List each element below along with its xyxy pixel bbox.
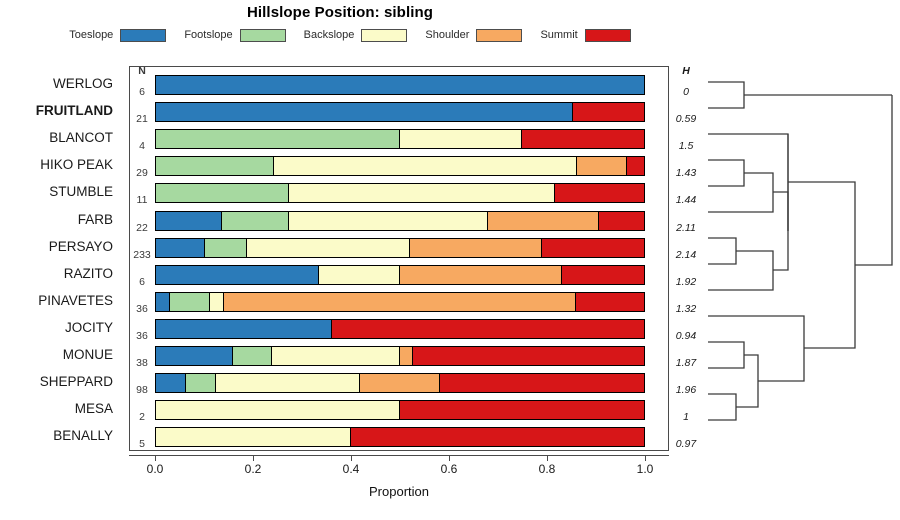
category-label-mesa: MESA (0, 401, 113, 416)
bar-segment-shoulder (360, 374, 440, 392)
category-label-fruitland: FRUITLAND (0, 103, 113, 118)
bar-segment-backslope (156, 401, 400, 419)
n-value: 29 (129, 167, 155, 179)
n-value: 6 (129, 86, 155, 98)
bar-segment-summit (522, 130, 644, 148)
legend-label: Summit (540, 29, 577, 41)
category-label-hiko-peak: HIKO PEAK (0, 157, 113, 172)
bar-segment-footslope (233, 347, 272, 365)
bar-segment-summit (555, 184, 644, 202)
legend-item-shoulder: Shoulder (425, 29, 522, 42)
bar-segment-summit (599, 212, 644, 230)
bar-segment-shoulder (400, 266, 563, 284)
legend-swatch-footslope (240, 29, 286, 42)
n-value: 36 (129, 330, 155, 342)
stacked-bar (155, 346, 645, 366)
category-label-farb: FARB (0, 212, 113, 227)
legend-swatch-shoulder (476, 29, 522, 42)
x-tick (449, 455, 450, 461)
category-label-jocity: JOCITY (0, 320, 113, 335)
bar-segment-backslope (274, 157, 577, 175)
bar-segment-backslope (272, 347, 400, 365)
x-tick-label: 0.2 (245, 462, 262, 476)
bar-segment-footslope (222, 212, 288, 230)
category-label-blancot: BLANCOT (0, 130, 113, 145)
bar-segment-backslope (247, 239, 410, 257)
n-value: 98 (129, 384, 155, 396)
bar-segment-toeslope (156, 212, 222, 230)
n-value: 36 (129, 303, 155, 315)
category-label-benally: BENALLY (0, 428, 113, 443)
chart-title: Hillslope Position: sibling (0, 4, 680, 21)
legend-item-toeslope: Toeslope (69, 29, 166, 42)
bar-segment-summit (562, 266, 643, 284)
dendrogram-svg (700, 60, 900, 460)
legend-label: Backslope (304, 29, 355, 41)
stacked-bar (155, 102, 645, 122)
bar-segment-shoulder (400, 347, 413, 365)
bar-segment-toeslope (156, 239, 205, 257)
stacked-bar (155, 319, 645, 339)
bar-segment-shoulder (410, 239, 542, 257)
x-tick (547, 455, 548, 461)
stacked-bar (155, 183, 645, 203)
bar-segment-summit (576, 293, 644, 311)
bar-segment-summit (627, 157, 644, 175)
bar-segment-shoulder (224, 293, 576, 311)
legend-item-backslope: Backslope (304, 29, 408, 42)
bar-segment-footslope (170, 293, 211, 311)
legend-label: Footslope (184, 29, 232, 41)
x-tick-label: 0.4 (343, 462, 360, 476)
x-tick-label: 0.8 (539, 462, 556, 476)
legend-swatch-backslope (361, 29, 407, 42)
stacked-bar (155, 427, 645, 447)
legend-label: Toeslope (69, 29, 113, 41)
bar-segment-backslope (210, 293, 224, 311)
n-value: 6 (129, 276, 155, 288)
x-tick (155, 455, 156, 461)
bar-segment-toeslope (156, 293, 170, 311)
dendrogram (700, 60, 900, 460)
stacked-bar (155, 265, 645, 285)
category-label-stumble: STUMBLE (0, 184, 113, 199)
legend-item-footslope: Footslope (184, 29, 285, 42)
category-label-werlog: WERLOG (0, 76, 113, 91)
bar-segment-backslope (156, 428, 351, 446)
bar-segment-toeslope (156, 76, 644, 94)
stacked-bar (155, 373, 645, 393)
bar-segment-toeslope (156, 320, 332, 338)
bar-segment-backslope (216, 374, 360, 392)
x-tick-label: 0.6 (441, 462, 458, 476)
stacked-bar (155, 400, 645, 420)
stacked-bar (155, 156, 645, 176)
legend: ToeslopeFootslopeBackslopeShoulderSummit (0, 26, 700, 44)
n-value: 233 (129, 249, 155, 261)
x-axis-line (129, 455, 669, 456)
n-value: 38 (129, 357, 155, 369)
stacked-bar (155, 292, 645, 312)
n-value: 22 (129, 222, 155, 234)
bar-segment-footslope (156, 130, 400, 148)
n-value: 5 (129, 438, 155, 450)
legend-swatch-summit (585, 29, 631, 42)
bar-segment-footslope (156, 157, 274, 175)
bar-segment-summit (573, 103, 644, 121)
category-label-razito: RAZITO (0, 266, 113, 281)
bar-segment-summit (413, 347, 644, 365)
x-tick (645, 455, 646, 461)
legend-swatch-toeslope (120, 29, 166, 42)
category-label-persayo: PERSAYO (0, 239, 113, 254)
category-label-monue: MONUE (0, 347, 113, 362)
stacked-bar (155, 75, 645, 95)
bar-segment-shoulder (577, 157, 627, 175)
x-axis-label: Proportion (129, 484, 669, 499)
bar-segment-footslope (205, 239, 247, 257)
bar-segment-backslope (319, 266, 400, 284)
category-label-sheppard: SHEPPARD (0, 374, 113, 389)
n-value: 11 (129, 194, 155, 206)
n-value: 21 (129, 113, 155, 125)
bar-segment-backslope (289, 184, 555, 202)
x-tick (253, 455, 254, 461)
bar-segment-backslope (289, 212, 489, 230)
bar-segment-shoulder (488, 212, 599, 230)
bar-segment-toeslope (156, 374, 186, 392)
bar-segment-summit (400, 401, 644, 419)
legend-label: Shoulder (425, 29, 469, 41)
bar-segment-summit (351, 428, 644, 446)
stacked-bar (155, 129, 645, 149)
x-tick-label: 1.0 (637, 462, 654, 476)
bar-segment-footslope (156, 184, 289, 202)
bar-segment-summit (440, 374, 644, 392)
x-tick (351, 455, 352, 461)
bar-segment-summit (332, 320, 644, 338)
n-value: 2 (129, 411, 155, 423)
bar-segment-backslope (400, 130, 522, 148)
bar-segment-toeslope (156, 347, 233, 365)
stacked-bar (155, 238, 645, 258)
legend-item-summit: Summit (540, 29, 630, 42)
bar-segment-toeslope (156, 103, 573, 121)
bar-segment-footslope (186, 374, 216, 392)
category-label-pinavetes: PINAVETES (0, 293, 113, 308)
bar-segment-summit (542, 239, 644, 257)
x-tick-label: 0.0 (147, 462, 164, 476)
bar-segment-toeslope (156, 266, 319, 284)
n-value: 4 (129, 140, 155, 152)
stacked-bar (155, 211, 645, 231)
